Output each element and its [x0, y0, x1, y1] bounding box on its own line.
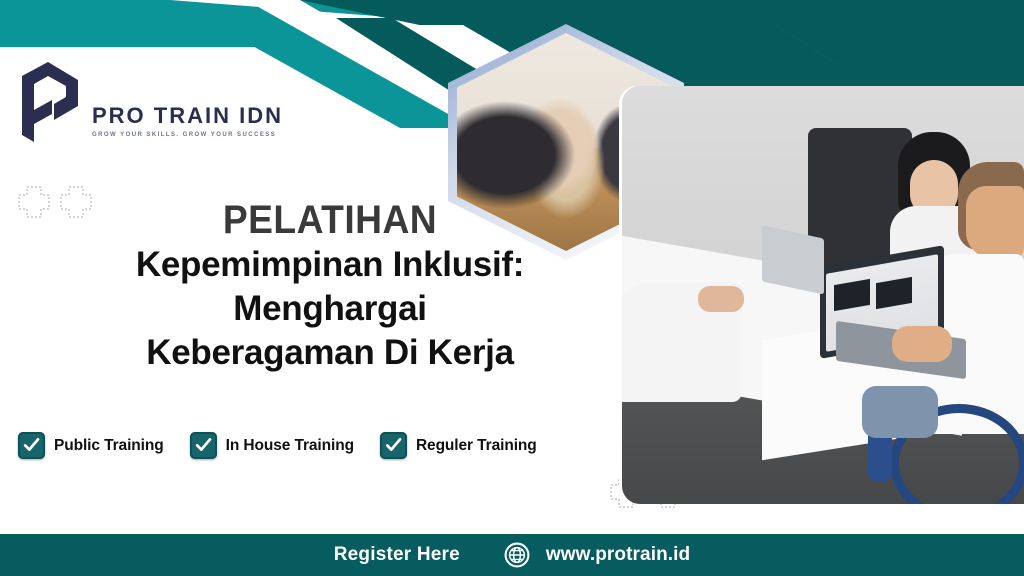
headline-line-1: Kepemimpinan Inklusif: [40, 243, 620, 287]
website-block[interactable]: www.protrain.id [504, 542, 690, 568]
headline-line-3: Keberagaman Di Kerja [40, 331, 620, 375]
website-url[interactable]: www.protrain.id [546, 544, 690, 566]
footer-bar: Register Here www.protrain.id [0, 534, 1024, 576]
photo-hand-left [698, 286, 744, 312]
brand-name: PRO TRAIN IDN [92, 105, 283, 127]
register-here-label[interactable]: Register Here [334, 544, 460, 566]
globe-icon [504, 542, 530, 568]
pro-train-monogram-icon [14, 58, 86, 146]
promo-banner: PRO TRAIN IDN GROW YOUR SKILLS. GROW YOU… [0, 0, 1024, 576]
photo-person-leg [862, 386, 938, 438]
training-option-label: Public Training [54, 437, 164, 455]
headline-line-2: Menghargai [40, 287, 620, 331]
main-photo [622, 86, 1024, 504]
photo-hand-typing [892, 326, 952, 362]
training-option-label: Reguler Training [416, 437, 537, 455]
training-option-reguler[interactable]: Reguler Training [380, 432, 537, 459]
headline-kicker: PELATIHAN [60, 198, 599, 243]
brand-logo: PRO TRAIN IDN GROW YOUR SKILLS. GROW YOU… [14, 58, 283, 146]
training-option-label: In House Training [226, 437, 354, 455]
checkbox-checked-icon[interactable] [18, 432, 45, 459]
training-option-public[interactable]: Public Training [18, 432, 164, 459]
checkbox-checked-icon[interactable] [190, 432, 217, 459]
training-options: Public Training In House Training Regule… [18, 432, 537, 459]
checkbox-checked-icon[interactable] [380, 432, 407, 459]
headline-block: PELATIHAN Kepemimpinan Inklusif: Menghar… [40, 198, 620, 375]
training-option-in-house[interactable]: In House Training [190, 432, 354, 459]
brand-tagline: GROW YOUR SKILLS. GROW YOUR SUCCESS [92, 132, 283, 138]
photo-person-right-face [966, 186, 1024, 258]
